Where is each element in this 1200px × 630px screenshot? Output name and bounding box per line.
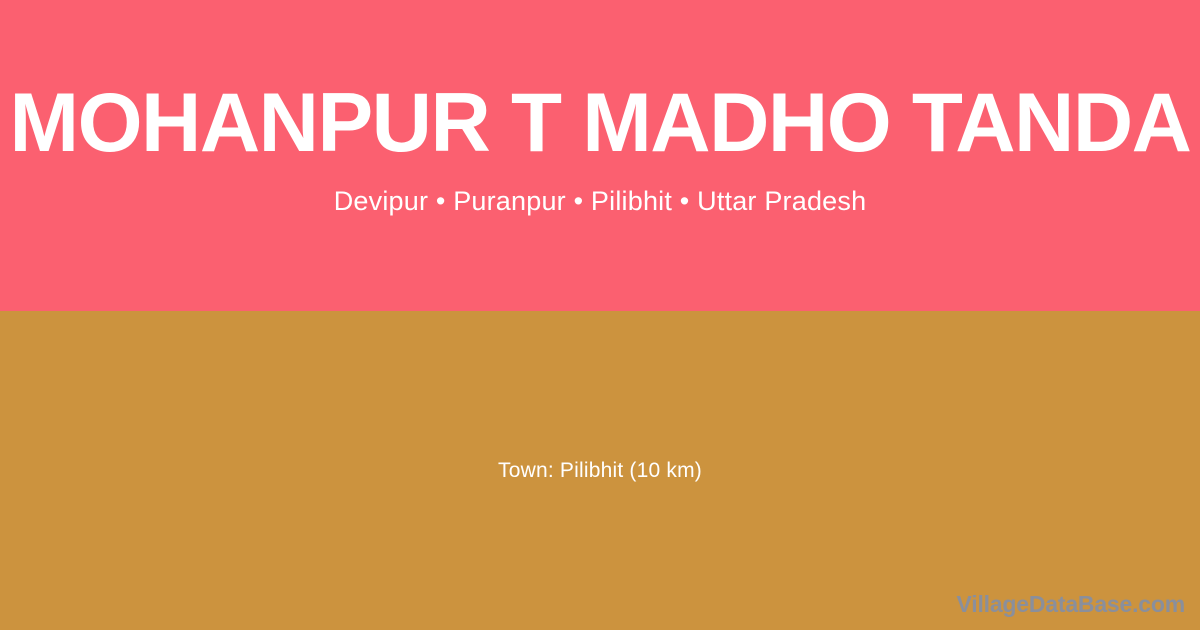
page-title: MOHANPUR T MADHO TANDA [0, 82, 1200, 164]
header-banner: MOHANPUR T MADHO TANDA Devipur • Puranpu… [0, 0, 1200, 311]
village-info-card: MOHANPUR T MADHO TANDA Devipur • Puranpu… [0, 0, 1200, 630]
site-watermark: VillageDataBase.com [957, 591, 1185, 618]
breadcrumb: Devipur • Puranpur • Pilibhit • Uttar Pr… [0, 164, 1200, 217]
nearest-town-label: Town: Pilibhit (10 km) [0, 311, 1200, 630]
detail-panel: Town: Pilibhit (10 km) VillageDataBase.c… [0, 311, 1200, 630]
